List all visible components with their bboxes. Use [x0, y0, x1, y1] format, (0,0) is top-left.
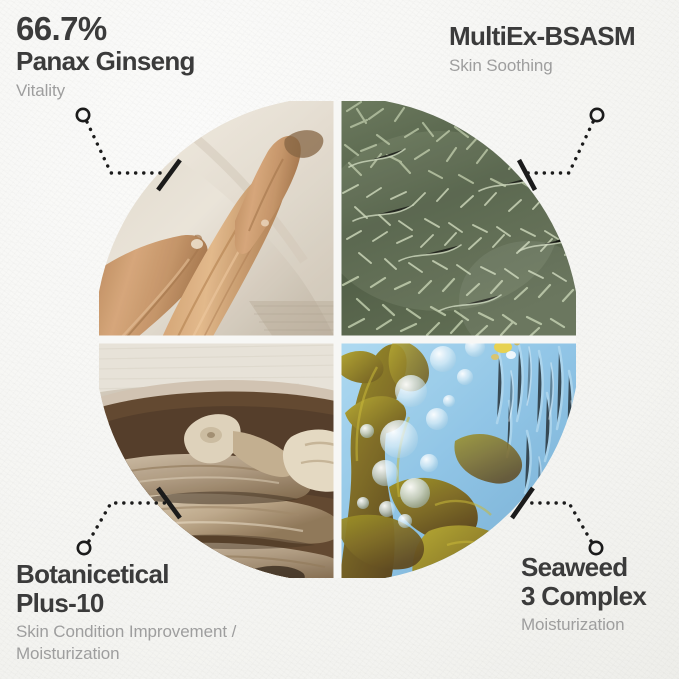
multiex-subtitle: Skin Soothing — [449, 55, 635, 77]
seaweed-subtitle: Moisturization — [521, 614, 646, 636]
botanicetical-title-line1: Botanicetical — [16, 560, 236, 589]
ginseng-subtitle: Vitality — [16, 80, 195, 102]
label-panax-ginseng: 66.7% Panax Ginseng Vitality — [16, 12, 195, 102]
ginseng-percent: 66.7% — [16, 12, 195, 47]
botanicetical-title-line2: Plus-10 — [16, 589, 236, 618]
label-botanicetical-plus-10: Botanicetical Plus-10 Skin Condition Imp… — [16, 560, 236, 665]
connector-multiex-bsasm — [519, 109, 603, 190]
connector-panax-ginseng — [77, 109, 180, 190]
label-multiex-bsasm: MultiEx-BSASM Skin Soothing — [449, 22, 635, 77]
ginseng-title: Panax Ginseng — [16, 47, 195, 76]
multiex-title: MultiEx-BSASM — [449, 22, 635, 51]
connector-seaweed-3-complex — [512, 488, 602, 554]
ingredient-infographic: 66.7% Panax Ginseng Vitality MultiEx-BSA… — [0, 0, 679, 679]
seaweed-title-line2: 3 Complex — [521, 582, 646, 611]
botanicetical-subtitle-line2: Moisturization — [16, 643, 236, 665]
label-seaweed-3-complex: Seaweed 3 Complex Moisturization — [521, 553, 646, 636]
seaweed-title-line1: Seaweed — [521, 553, 646, 582]
connector-botanicetical-plus-10 — [78, 488, 180, 554]
botanicetical-subtitle-line1: Skin Condition Improvement / — [16, 621, 236, 643]
